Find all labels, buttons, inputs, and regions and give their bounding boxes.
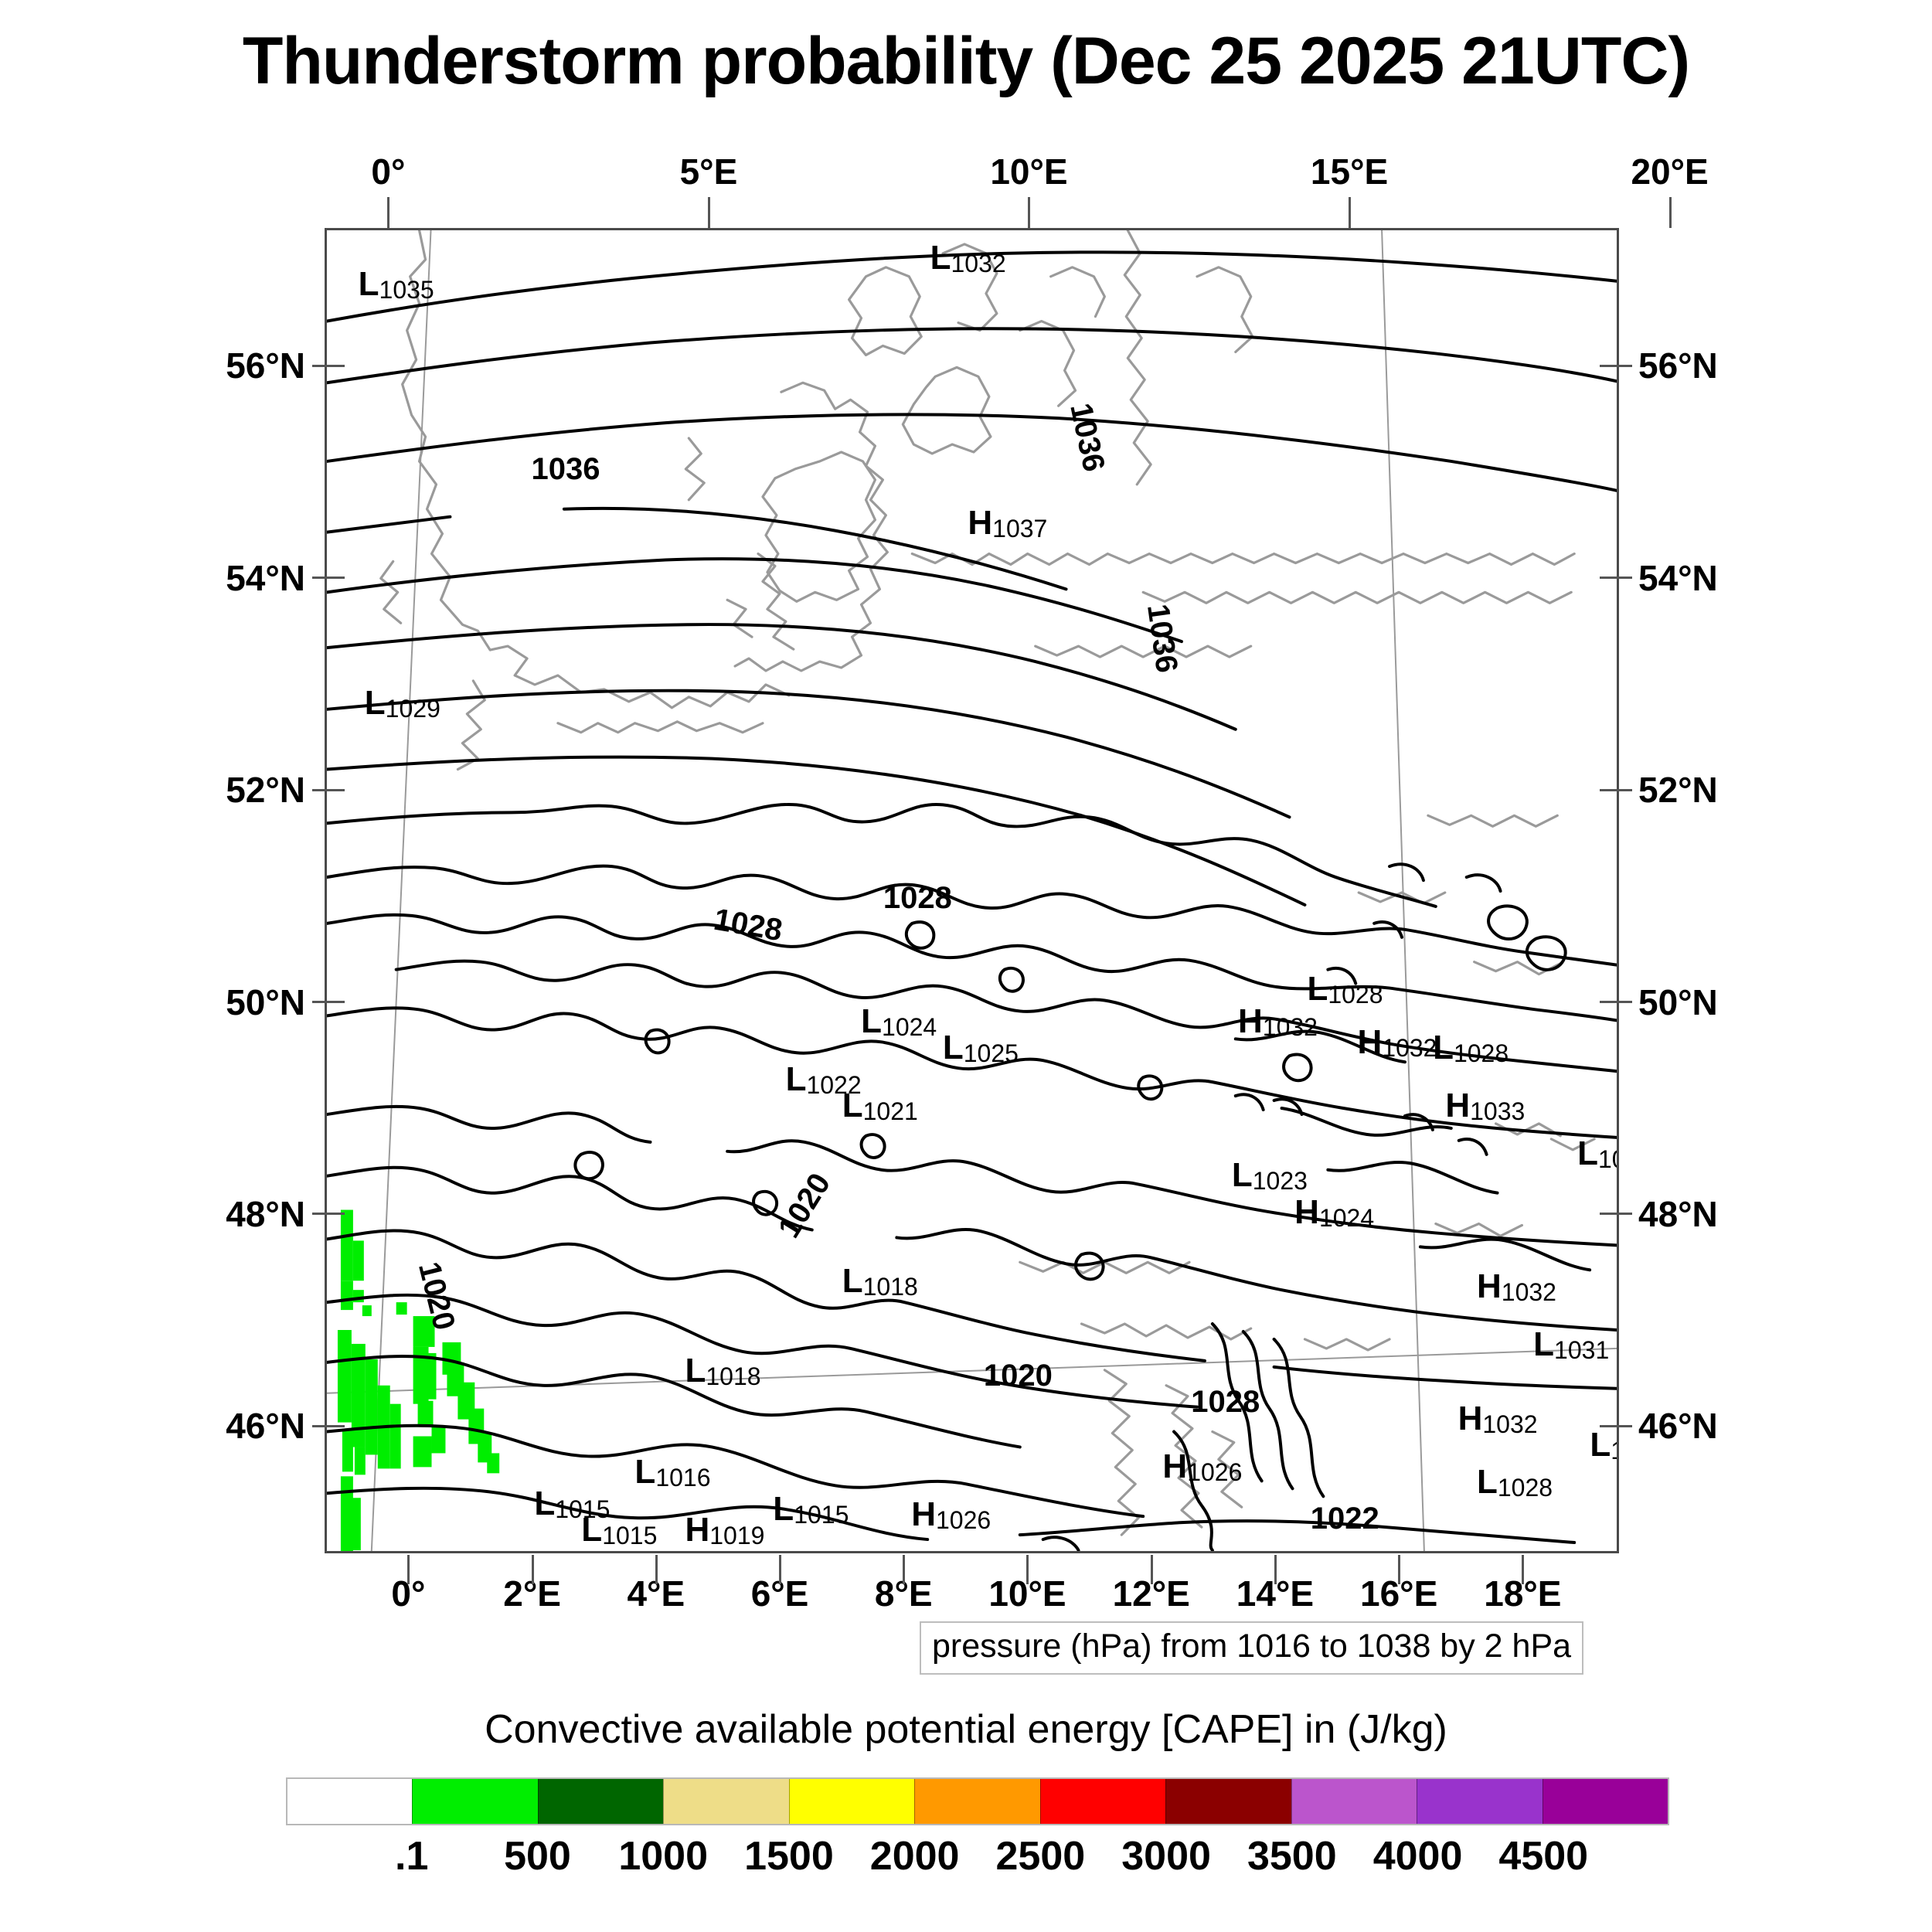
cape-colorbar-cell-10[interactable] (1543, 1779, 1668, 1824)
pressure-centre-value: 1032 (951, 250, 1005, 277)
pressure-centre-value: 1026 (1187, 1458, 1242, 1486)
pressure-centre-h-20: H1032 (1458, 1402, 1538, 1437)
pressure-centre-glyph: L (842, 1262, 863, 1300)
pressure-centre-glyph: H (1162, 1447, 1187, 1485)
pressure-centre-glyph: H (1458, 1400, 1483, 1437)
pressure-centre-glyph: H (968, 504, 992, 542)
axis-left-tick-3 (312, 1001, 345, 1003)
cape-colorbar[interactable] (286, 1777, 1669, 1825)
cape-tick-label-4: 2000 (870, 1833, 960, 1879)
axis-right-tick-0 (1600, 365, 1632, 367)
pressure-centre-l-0: L1035 (359, 267, 434, 302)
pressure-centre-h-9: H1032 (1238, 1005, 1318, 1039)
axis-top-label-0: 0° (371, 151, 405, 192)
pressure-centre-h-12: H1033 (1445, 1089, 1525, 1124)
axis-right-label-0: 56°N (1638, 345, 1718, 386)
pressure-centre-glyph: L (365, 684, 386, 722)
pressure-centre-value: 1033 (1470, 1098, 1525, 1126)
pressure-centre-glyph: L (930, 239, 951, 277)
pressure-centre-glyph: H (1477, 1267, 1502, 1305)
axis-bottom-tick-7 (1274, 1555, 1277, 1584)
cape-colorbar-cell-8[interactable] (1291, 1779, 1417, 1824)
axis-top-tick-2 (1028, 197, 1030, 228)
cape-tick-label-0: .1 (395, 1833, 428, 1879)
pressure-centre-glyph: L (786, 1060, 807, 1098)
axis-right-label-2: 52°N (1638, 769, 1718, 811)
axis-right-tick-4 (1600, 1213, 1632, 1215)
axis-left-tick-2 (312, 789, 345, 791)
pressure-centre-value: 1031 (1554, 1336, 1609, 1364)
pressure-centre-l-3: L1029 (365, 686, 440, 721)
axis-right-tick-3 (1600, 1001, 1632, 1003)
pressure-centre-l-5: L1025 (943, 1031, 1019, 1066)
pressure-centre-value: 1015 (794, 1501, 849, 1529)
axis-bottom-tick-4 (903, 1555, 905, 1584)
axis-right-tick-5 (1600, 1425, 1632, 1427)
pressure-centre-glyph: L (581, 1511, 602, 1549)
pressure-centre-value: 1019 (709, 1522, 764, 1549)
axis-bottom-tick-6 (1151, 1555, 1153, 1584)
cape-colorbar-cell-6[interactable] (1040, 1779, 1165, 1824)
cape-tick-label-1: 500 (504, 1833, 571, 1879)
pressure-centre-glyph: L (359, 265, 379, 303)
pressure-centre-glyph: L (1307, 970, 1328, 1008)
pressure-centre-glyph: L (1232, 1156, 1253, 1194)
cape-colorbar-cell-2[interactable] (538, 1779, 663, 1824)
pressure-centre-glyph: L (1433, 1029, 1454, 1066)
pressure-centre-glyph: H (1294, 1193, 1319, 1231)
cape-tick-label-6: 3000 (1121, 1833, 1211, 1879)
axis-top-label-4: 20°E (1631, 151, 1708, 192)
pressure-centre-glyph: L (773, 1490, 794, 1528)
contour-label-1036-0: 1036 (531, 454, 600, 485)
pressure-centre-l-1: L1032 (930, 241, 1006, 276)
pressure-centre-l-21: L103 (1590, 1428, 1619, 1463)
cape-colorbar-title: Convective available potential energy [C… (0, 1706, 1932, 1753)
axis-left-tick-0 (312, 365, 345, 367)
axis-bottom-tick-5 (1026, 1555, 1029, 1584)
axis-top-label-3: 15°E (1311, 151, 1388, 192)
pressure-centre-glyph: L (534, 1485, 555, 1522)
pressure-centre-glyph: L (1477, 1463, 1498, 1501)
pressure-centre-value: 10 (1598, 1145, 1619, 1173)
pressure-centre-l-19: L1031 (1533, 1328, 1609, 1362)
axis-bottom-tick-3 (779, 1555, 781, 1584)
cape-tick-label-2: 1000 (618, 1833, 708, 1879)
pressure-centre-h-18: H1032 (1477, 1270, 1556, 1304)
pressure-centre-value: 1032 (1382, 1034, 1437, 1062)
pressure-centre-value: 1032 (1502, 1278, 1556, 1306)
pressure-centre-l-11: L1028 (1433, 1031, 1509, 1066)
cape-tick-label-8: 4000 (1373, 1833, 1463, 1879)
cape-tick-label-7: 3500 (1247, 1833, 1337, 1879)
axis-right-label-1: 54°N (1638, 557, 1718, 599)
graticule (327, 230, 1617, 1551)
axis-left-tick-4 (312, 1213, 345, 1215)
pressure-centre-glyph: H (1357, 1023, 1382, 1061)
contour-label-1028-8: 1028 (1191, 1386, 1260, 1417)
cape-colorbar-cell-5[interactable] (914, 1779, 1039, 1824)
cape-tick-label-3: 1500 (744, 1833, 834, 1879)
cape-colorbar-cell-3[interactable] (663, 1779, 788, 1824)
pressure-centre-glyph: L (943, 1029, 964, 1066)
pressure-centre-glyph: L (861, 1002, 882, 1040)
pressure-centre-l-4: L1024 (861, 1005, 937, 1039)
pressure-centre-value: 1028 (1454, 1039, 1509, 1067)
map-plot-area[interactable]: L1035L1032H1037L1029L1024L1025L1022L1021… (325, 228, 1619, 1553)
pressure-centre-glyph: H (1445, 1087, 1470, 1124)
pressure-centre-value: 1028 (1328, 981, 1383, 1009)
pressure-centre-l-24: L1015 (581, 1513, 657, 1548)
cape-colorbar-cell-4[interactable] (789, 1779, 914, 1824)
contour-label-1022-9: 1022 (1311, 1503, 1379, 1534)
pressure-centre-h-10: H1032 (1357, 1026, 1437, 1060)
pressure-centre-glyph: L (1577, 1134, 1598, 1172)
cape-colorbar-cell-9[interactable] (1417, 1779, 1542, 1824)
axis-right-tick-2 (1600, 789, 1632, 791)
axis-top-label-1: 5°E (680, 151, 738, 192)
axis-left-label-0: 56°N (182, 345, 305, 386)
pressure-centre-value: 1026 (936, 1506, 991, 1534)
axis-left-tick-1 (312, 577, 345, 579)
pressure-centre-l-8: L1028 (1307, 972, 1383, 1007)
axis-right-label-3: 50°N (1638, 981, 1718, 1023)
axis-right-label-5: 46°N (1638, 1405, 1718, 1447)
axis-top-tick-0 (387, 197, 389, 228)
pressure-centre-value: 1028 (1498, 1475, 1553, 1502)
pressure-centre-value: 1024 (1319, 1204, 1374, 1232)
axis-left-label-4: 48°N (182, 1193, 305, 1235)
cape-colorbar-ticks: .150010001500200025003000350040004500 (286, 1833, 1669, 1887)
cape-colorbar-cell-1[interactable] (412, 1779, 537, 1824)
pressure-centre-value: 1023 (1253, 1167, 1308, 1195)
axis-bottom-tick-0 (407, 1555, 410, 1584)
axis-bottom-tick-8 (1398, 1555, 1400, 1584)
pressure-centre-l-17: L1018 (685, 1354, 760, 1389)
pressure-centre-h-28: H1026 (1162, 1450, 1242, 1485)
pressure-centre-h-14: H1024 (1294, 1196, 1374, 1230)
axis-right-label-4: 48°N (1638, 1193, 1718, 1235)
pressure-centre-h-25: H1019 (685, 1513, 764, 1548)
pressure-centre-h-2: H1037 (968, 506, 1047, 541)
cape-colorbar-cell-0[interactable] (287, 1779, 412, 1824)
pressure-centre-l-15: L10 (1577, 1137, 1619, 1172)
axis-left-tick-5 (312, 1425, 345, 1427)
pressure-centre-glyph: H (1238, 1002, 1263, 1040)
contour-label-1020-7: 1020 (984, 1360, 1053, 1391)
axis-left-label-2: 52°N (182, 769, 305, 811)
pressure-centre-h-27: H1026 (911, 1498, 991, 1532)
pressure-centre-value: 1025 (964, 1039, 1019, 1067)
pressure-centre-glyph: L (1590, 1426, 1611, 1464)
pressure-centre-l-16: L1018 (842, 1264, 918, 1299)
pressure-centre-l-22: L1016 (634, 1455, 710, 1490)
axis-left-label-1: 54°N (182, 557, 305, 599)
pressure-centre-l-26: L1015 (773, 1492, 849, 1527)
contour-label-1028-4: 1028 (883, 883, 952, 913)
axis-left-label-5: 46°N (182, 1405, 305, 1447)
axis-top-tick-4 (1669, 197, 1672, 228)
axis-bottom-tick-2 (655, 1555, 658, 1584)
pressure-centre-value: 1015 (602, 1522, 657, 1549)
pressure-centre-value: 1032 (1263, 1013, 1318, 1041)
axis-top-tick-1 (708, 197, 710, 228)
pressure-centre-glyph: H (685, 1511, 709, 1549)
pressure-legend-box: pressure (hPa) from 1016 to 1038 by 2 hP… (920, 1621, 1583, 1675)
axis-left-label-3: 50°N (182, 981, 305, 1023)
axis-right-tick-1 (1600, 577, 1632, 579)
map-canvas (327, 230, 1617, 1551)
pressure-centre-glyph: L (842, 1087, 863, 1124)
cape-shading (338, 1210, 499, 1551)
pressure-centre-value: 1021 (863, 1098, 918, 1126)
pressure-centre-glyph: L (634, 1453, 655, 1491)
pressure-centre-value: 1035 (379, 276, 434, 304)
page-title: Thunderstorm probability (Dec 25 2025 21… (0, 23, 1932, 100)
pressure-centre-value: 1018 (863, 1273, 918, 1301)
pressure-centre-glyph: H (911, 1495, 936, 1533)
cape-tick-label-5: 2500 (996, 1833, 1086, 1879)
pressure-centre-value: 1018 (706, 1363, 760, 1391)
cape-colorbar-cell-7[interactable] (1165, 1779, 1291, 1824)
coastlines (381, 230, 1594, 1535)
pressure-centre-value: 103 (1611, 1437, 1619, 1465)
pressure-centre-value: 1029 (386, 695, 440, 723)
pressure-centre-value: 1037 (992, 515, 1047, 543)
pressure-centre-glyph: L (685, 1352, 706, 1389)
axis-bottom-tick-9 (1522, 1555, 1524, 1584)
cape-tick-label-9: 4500 (1498, 1833, 1588, 1879)
pressure-centre-glyph: L (1533, 1325, 1554, 1363)
pressure-centre-l-29: L1028 (1477, 1465, 1553, 1500)
axis-top-label-2: 10°E (990, 151, 1067, 192)
pressure-centre-l-13: L1023 (1232, 1158, 1308, 1193)
pressure-centre-value: 1016 (655, 1464, 710, 1492)
axis-top-tick-3 (1349, 197, 1351, 228)
pressure-centre-value: 1032 (1482, 1410, 1537, 1438)
pressure-centre-value: 1024 (882, 1013, 937, 1041)
axis-bottom-tick-1 (532, 1555, 534, 1584)
pressure-centre-l-7: L1021 (842, 1089, 918, 1124)
